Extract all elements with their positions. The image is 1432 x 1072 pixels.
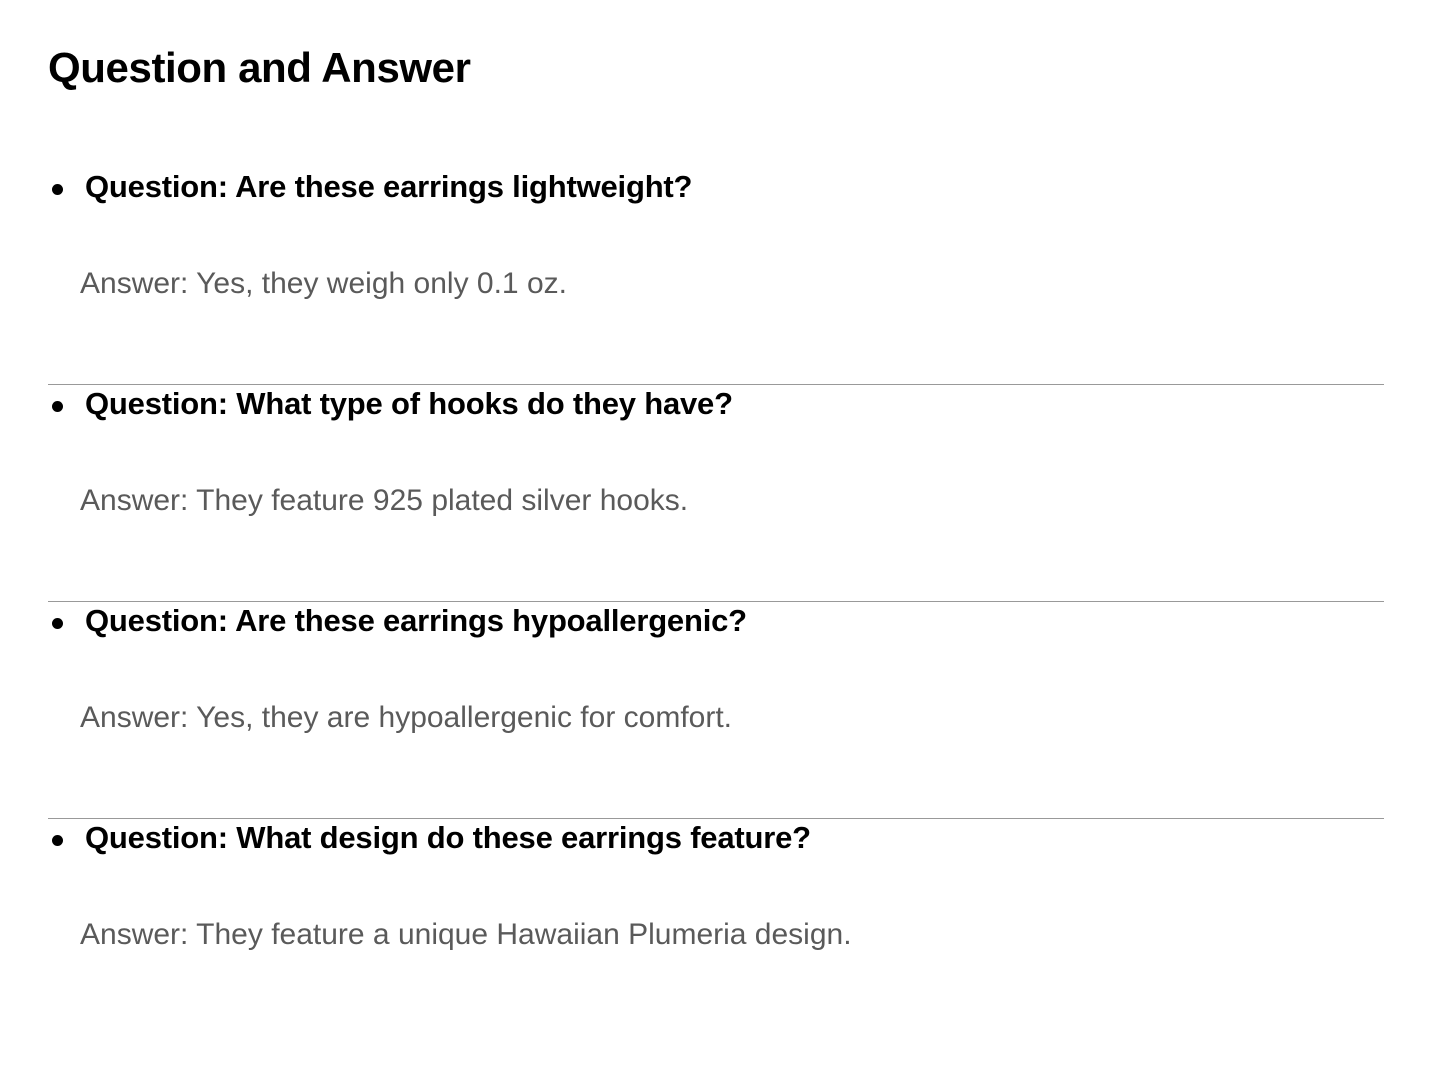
bullet-dot-icon <box>52 618 63 629</box>
qa-question-text: Question: What type of hooks do they hav… <box>85 386 733 421</box>
qa-answer: Answer: They feature 925 plated silver h… <box>0 482 1432 520</box>
qa-question: Question: What design do these earrings … <box>0 819 1432 857</box>
qa-question: Question: What type of hooks do they hav… <box>0 385 1432 423</box>
qa-list: Question: Are these earrings lightweight… <box>0 168 1432 954</box>
qa-question-text: Question: What design do these earrings … <box>85 820 811 855</box>
qa-question: Question: Are these earrings lightweight… <box>0 168 1432 206</box>
qa-item: Question: Are these earrings lightweight… <box>0 168 1432 385</box>
bullet-dot-icon <box>52 401 63 412</box>
page-title: Question and Answer <box>48 44 471 92</box>
bullet-dot-icon <box>52 184 63 195</box>
qa-answer: Answer: Yes, they are hypoallergenic for… <box>0 699 1432 737</box>
qa-question-text: Question: Are these earrings lightweight… <box>85 169 692 204</box>
qa-item: Question: What design do these earrings … <box>0 819 1432 954</box>
qa-answer: Answer: They feature a unique Hawaiian P… <box>0 916 1432 954</box>
qa-item: Question: What type of hooks do they hav… <box>0 385 1432 602</box>
qa-page: Question and Answer Question: Are these … <box>0 0 1432 1072</box>
qa-question: Question: Are these earrings hypoallerge… <box>0 602 1432 640</box>
bullet-dot-icon <box>52 835 63 846</box>
qa-item: Question: Are these earrings hypoallerge… <box>0 602 1432 819</box>
qa-question-text: Question: Are these earrings hypoallerge… <box>85 603 747 638</box>
qa-answer: Answer: Yes, they weigh only 0.1 oz. <box>0 265 1432 303</box>
